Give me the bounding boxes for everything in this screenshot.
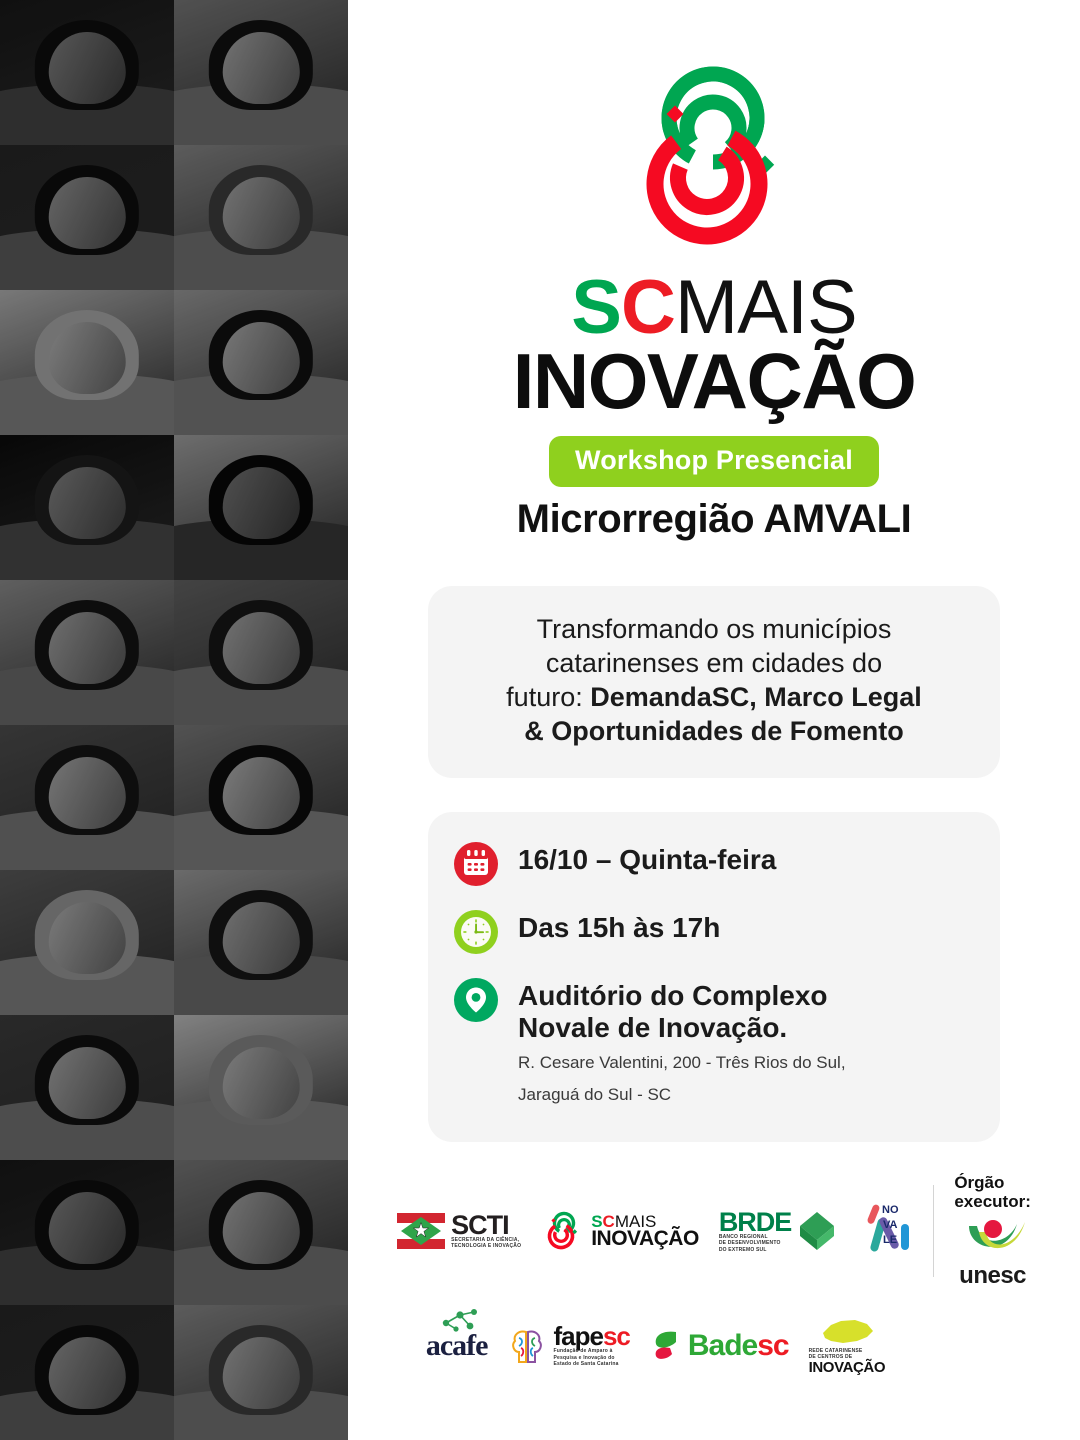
photo-mosaic (0, 0, 348, 1440)
photo-tile (174, 435, 348, 580)
photo-tile (174, 870, 348, 1015)
photo-tile (0, 870, 174, 1015)
workshop-badge-row: Workshop Presencial (348, 436, 1080, 487)
photo-face-shadow (49, 612, 126, 685)
fapesc-tagline-3: Estado de Santa Catarina (553, 1361, 629, 1367)
photo-tile (0, 290, 174, 435)
santa-catarina-map-icon (817, 1317, 877, 1347)
photo-face-shadow (223, 1047, 300, 1120)
detail-location-line-2: Novale de Inovação. (518, 1012, 846, 1044)
fapesc-wordmark: fapesc (553, 1325, 629, 1348)
photo-face-shadow (223, 1337, 300, 1410)
santa-catarina-flag-icon (397, 1213, 445, 1249)
details-card: 16/10 – Quinta-feira Das (428, 812, 1000, 1143)
fapesc-word-main: fape (553, 1321, 602, 1351)
photo-tile (174, 725, 348, 870)
novale-line-1: NO (882, 1204, 899, 1216)
scmais-spiral-icon (609, 66, 819, 266)
photo-face-shadow (49, 322, 126, 395)
footer-logos: SCTI SECRETARIA DA CIÊNCIA, TECNOLOGIA E… (348, 1173, 1080, 1392)
scti-tagline-2: TECNOLOGIA E INOVAÇÃO (451, 1243, 521, 1249)
photo-tile (0, 0, 174, 145)
badesc-word-main: Bade (688, 1329, 757, 1362)
scti-tagline-1: SECRETARIA DA CIÊNCIA, (451, 1237, 521, 1243)
scmais-spiral-icon (541, 1210, 585, 1252)
executor-label-line-2: executor: (954, 1192, 1031, 1212)
detail-location-line-1: Auditório do Complexo (518, 980, 846, 1012)
wordmark-scmais: SCMAIS (348, 272, 1080, 344)
logo-acafe: acafe (426, 1329, 488, 1363)
photo-tile (0, 725, 174, 870)
acafe-network-icon (440, 1309, 486, 1333)
detail-row-location: Auditório do Complexo Novale de Inovação… (454, 978, 970, 1109)
footer-logo-row-1: SCTI SECRETARIA DA CIÊNCIA, TECNOLOGIA E… (348, 1173, 1080, 1290)
photo-face-shadow (49, 757, 126, 830)
logo-novale: NO VA LE (857, 1202, 913, 1260)
photo-tile (174, 1015, 348, 1160)
logo-fapesc: fapesc Fundação de Amparo à Pesquisa e I… (507, 1325, 629, 1367)
detail-date-value: 16/10 – Quinta-feira (518, 844, 776, 876)
summary-line-2: catarinenses em cidades do (456, 646, 972, 680)
logo-badesc: Badesc (650, 1328, 789, 1364)
acafe-wordmark: acafe (426, 1329, 488, 1363)
photo-face-shadow (49, 32, 126, 105)
logo-scti: SCTI SECRETARIA DA CIÊNCIA, TECNOLOGIA E… (397, 1213, 521, 1249)
badesc-leaf-icon (650, 1328, 682, 1364)
photo-face-shadow (49, 902, 126, 975)
detail-row-time: Das 15h às 17h (454, 910, 970, 954)
rede-wordmark: INOVAÇÃO (809, 1360, 886, 1375)
region-title: Microrregião AMVALI (348, 497, 1080, 542)
wordmark-inovacao: INOVAÇÃO (348, 342, 1080, 422)
scmais-mini-inovacao: INOVAÇÃO (591, 1229, 699, 1248)
photo-tile (0, 1160, 174, 1305)
photo-face-shadow (223, 467, 300, 540)
photo-tile (0, 1305, 174, 1440)
photo-face-shadow (49, 1047, 126, 1120)
summary-card: Transformando os municípios catarinenses… (428, 586, 1000, 778)
clock-icon (454, 910, 498, 954)
summary-line-4: & Oportunidades de Fomento (456, 714, 972, 748)
photo-tile (0, 1015, 174, 1160)
logo-unesc-executor: Órgão executor: unesc (954, 1173, 1031, 1290)
photo-tile (174, 290, 348, 435)
novale-line-3: LE (883, 1234, 897, 1246)
photo-face-shadow (49, 467, 126, 540)
footer-logo-row-2: acafe fapesc Fundação de Amparo à Pesqui… (348, 1300, 1080, 1392)
photo-tile (174, 580, 348, 725)
footer-divider (933, 1185, 934, 1277)
photo-face-shadow (49, 1337, 126, 1410)
logo-rede-catarinense: REDE CATARINENSE DE CENTROS DE INOVAÇÃO (809, 1317, 886, 1376)
brde-tagline-3: DO EXTREMO SUL (719, 1247, 792, 1253)
unesc-wordmark: unesc (954, 1262, 1031, 1290)
summary-line-1: Transformando os municípios (456, 612, 972, 646)
detail-time-value: Das 15h às 17h (518, 912, 720, 944)
calendar-icon (454, 842, 498, 886)
photo-face-shadow (49, 1192, 126, 1265)
logo-brde: BRDE BANCO REGIONAL DE DESENVOLVIMENTO D… (719, 1210, 838, 1253)
photo-tile (0, 580, 174, 725)
map-pin-icon (454, 978, 498, 1022)
photo-tile (0, 145, 174, 290)
photo-face-shadow (223, 757, 300, 830)
photo-tile (0, 435, 174, 580)
detail-address-line-2: Jaraguá do Sul - SC (518, 1082, 846, 1108)
brde-ribbon-icon (797, 1210, 837, 1252)
detail-text-time: Das 15h às 17h (518, 910, 720, 944)
photo-face-shadow (49, 177, 126, 250)
unesc-swoosh-icon (955, 1216, 1031, 1262)
brde-tagline-2: DE DESENVOLVIMENTO (719, 1240, 792, 1246)
detail-text-date: 16/10 – Quinta-feira (518, 842, 776, 876)
executor-label-line-1: Órgão (954, 1173, 1031, 1193)
photo-face-shadow (223, 902, 300, 975)
photo-face-shadow (223, 177, 300, 250)
photo-tile (174, 145, 348, 290)
brde-wordmark: BRDE (719, 1210, 792, 1234)
brand-lockup: SCMAIS INOVAÇÃO (348, 0, 1080, 422)
photo-tile (174, 0, 348, 145)
summary-line-3-bold: DemandaSC, Marco Legal (590, 682, 922, 712)
fapesc-word-accent: sc (603, 1321, 630, 1351)
photo-face-shadow (223, 322, 300, 395)
novale-line-2: VA (883, 1219, 898, 1231)
photo-face-shadow (223, 1192, 300, 1265)
detail-address-line-1: R. Cesare Valentini, 200 - Três Rios do … (518, 1050, 846, 1076)
novale-bars-icon: NO VA LE (857, 1202, 913, 1260)
badesc-wordmark: Badesc (688, 1329, 789, 1363)
workshop-badge: Workshop Presencial (549, 436, 879, 487)
summary-line-3: futuro: DemandaSC, Marco Legal (456, 680, 972, 714)
detail-text-location: Auditório do Complexo Novale de Inovação… (518, 978, 846, 1109)
fapesc-brain-icon (507, 1326, 547, 1366)
badesc-word-accent: sc (757, 1329, 788, 1362)
logo-scmais-inovacao: SCMAIS INOVAÇÃO (541, 1210, 699, 1252)
detail-row-date: 16/10 – Quinta-feira (454, 842, 970, 886)
photo-face-shadow (223, 612, 300, 685)
photo-face-shadow (223, 32, 300, 105)
photo-tile (174, 1305, 348, 1440)
photo-tile (174, 1160, 348, 1305)
scti-wordmark: SCTI (451, 1214, 521, 1237)
summary-line-3-plain: futuro: (506, 682, 590, 712)
